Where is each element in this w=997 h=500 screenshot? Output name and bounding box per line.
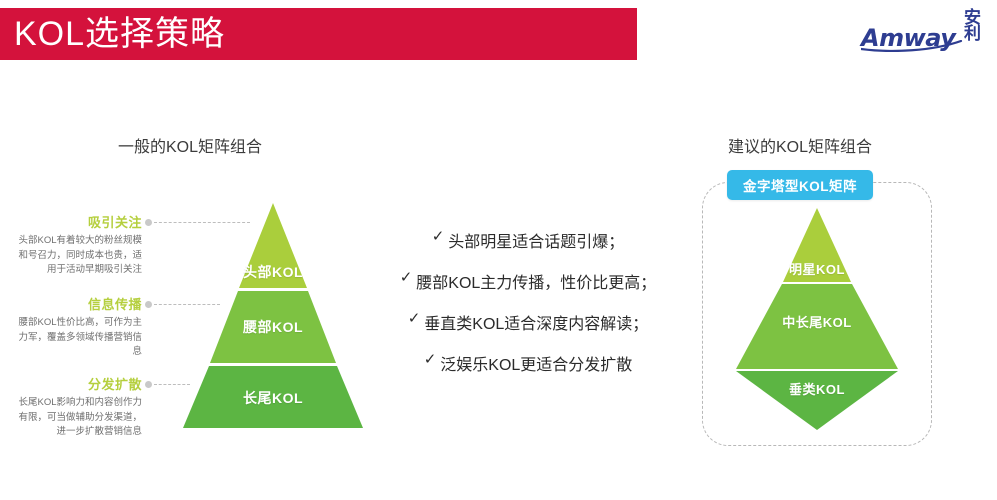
connector-dot-icon (145, 219, 152, 226)
pyramid-tier-top: 头部KOL (183, 203, 363, 288)
right-pyramid-tier-bottom: 垂类KOL (736, 371, 898, 430)
matrix-badge: 金字塔型KOL矩阵 (727, 170, 873, 200)
checklist-item-text: 垂直类KOL适合深度内容解读； (424, 310, 648, 334)
checklist-item-text: 泛娱乐KOL更适合分发扩散 (440, 351, 632, 375)
logo-swoosh-icon (861, 40, 969, 52)
check-icon: ✓ (432, 228, 445, 247)
pyramid-tier-bottom: 长尾KOL (183, 366, 363, 428)
right-pyramid-tier-middle: 中长尾KOL (736, 284, 898, 369)
right-kol-pyramid: 明星KOL 中长尾KOL 垂类KOL (736, 208, 898, 430)
left-kol-pyramid: 头部KOL 腰部KOL 长尾KOL (183, 203, 363, 428)
pyramid-tier-label: 长尾KOL (183, 388, 363, 408)
annotation-title: 分发扩散 (14, 374, 142, 393)
annotation-title: 吸引关注 (14, 212, 142, 231)
check-icon: ✓ (424, 351, 437, 370)
annotation-distribute: 分发扩散 长尾KOL影响力和内容创作力有限，可当做辅助分发渠道，进一步扩散营销信… (14, 374, 142, 440)
checklist: ✓ 头部明星适合话题引爆； ✓ 腰部KOL主力传播，性价比更高； ✓ 垂直类KO… (378, 228, 678, 392)
right-pyramid-tier-label: 明星KOL (736, 259, 898, 278)
right-pyramid-tier-top: 明星KOL (736, 208, 898, 282)
amway-logo: Amway 安 利 (861, 10, 981, 56)
pyramid-tier-middle: 腰部KOL (183, 291, 363, 363)
page-title: KOL选择策略 (0, 17, 225, 51)
checklist-item-text: 头部明星适合话题引爆； (448, 228, 624, 252)
checklist-item: ✓ 垂直类KOL适合深度内容解读； (378, 310, 678, 334)
right-pyramid-tier-label: 中长尾KOL (736, 312, 898, 331)
check-icon: ✓ (400, 269, 413, 288)
checklist-item: ✓ 泛娱乐KOL更适合分发扩散 (378, 351, 678, 375)
check-icon: ✓ (408, 310, 421, 329)
connector-dot-icon (145, 381, 152, 388)
left-section-heading: 一般的KOL矩阵组合 (118, 133, 262, 157)
annotation-spread-info: 信息传播 腰部KOL性价比高，可作为主力军，覆盖多领域传播营销信息 (14, 294, 142, 360)
pyramid-tier-label: 头部KOL (183, 262, 363, 282)
annotation-title: 信息传播 (14, 294, 142, 313)
checklist-item: ✓ 腰部KOL主力传播，性价比更高； (378, 269, 678, 293)
right-section-heading: 建议的KOL矩阵组合 (728, 133, 872, 157)
slide-canvas: KOL选择策略 Amway 安 利 一般的KOL矩阵组合 建议的KOL矩阵组合 … (0, 0, 997, 500)
logo-chinese-mark: 安 利 (964, 10, 981, 42)
header-bar: KOL选择策略 (0, 8, 637, 60)
annotation-attract: 吸引关注 头部KOL有着较大的粉丝规模和号召力，同时成本也贵，适用于活动早期吸引… (14, 212, 142, 278)
annotation-body: 腰部KOL性价比高，可作为主力军，覆盖多领域传播营销信息 (14, 316, 142, 360)
right-pyramid-tier-label: 垂类KOL (736, 379, 898, 398)
annotation-body: 长尾KOL影响力和内容创作力有限，可当做辅助分发渠道，进一步扩散营销信息 (14, 396, 142, 440)
checklist-item: ✓ 头部明星适合话题引爆； (378, 228, 678, 252)
pyramid-tier-label: 腰部KOL (183, 317, 363, 337)
annotation-body: 头部KOL有着较大的粉丝规模和号召力，同时成本也贵，适用于活动早期吸引关注 (14, 234, 142, 278)
connector-dot-icon (145, 301, 152, 308)
checklist-item-text: 腰部KOL主力传播，性价比更高； (416, 269, 656, 293)
